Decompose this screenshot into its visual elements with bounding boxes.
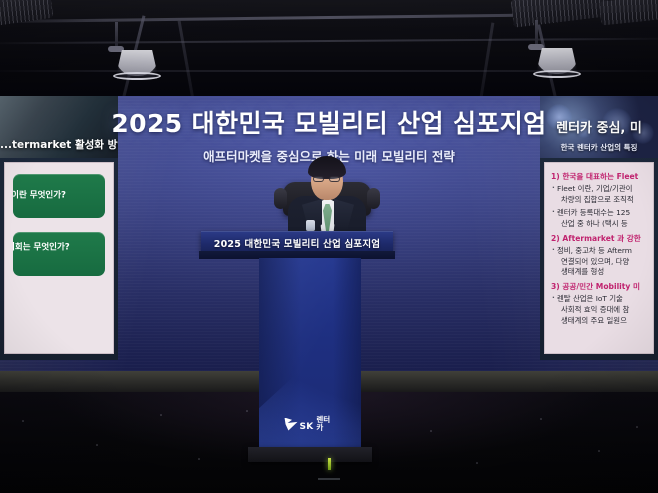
sk-rentacar-logo: SK 렌터카 bbox=[285, 416, 336, 432]
ceiling-vent-grille-icon bbox=[511, 0, 610, 28]
sk-logo-text: SK bbox=[300, 423, 314, 432]
pendant-lip bbox=[533, 70, 581, 78]
green-led-indicator bbox=[328, 458, 331, 470]
conference-stage-photo: 2025 대한민국 모빌리티 산업 심포지엄 애프터마켓을 중심으로 하는 미래… bbox=[0, 0, 658, 493]
left-slide-box-text: ...활성화 기회는 무엇인가? 술 중심) bbox=[13, 243, 105, 266]
sk-logo-text-kr: 렌터카 bbox=[316, 416, 335, 431]
podium-banner-text: 2025 대한민국 모빌리티 산업 심포지엄 bbox=[214, 236, 380, 250]
podium-base bbox=[248, 447, 372, 462]
right-slide-heading: 2) Aftermarket 과 강한 bbox=[551, 233, 649, 244]
floor-reflection-glint bbox=[318, 478, 340, 480]
podium-banner: 2025 대한민국 모빌리티 산업 심포지엄 bbox=[201, 231, 393, 253]
bullet-line-3: 생태계의 주요 일원으 bbox=[561, 316, 649, 327]
pendant-rod bbox=[115, 22, 118, 48]
truss-rod bbox=[473, 23, 495, 96]
left-slide-green-box: ...t 연결성이란 무엇인가? bbox=[13, 174, 105, 218]
ceiling bbox=[0, 0, 658, 96]
presenter-lapel-badge bbox=[306, 220, 315, 231]
bullet-line-2: 차량의 집합으로 조직적 bbox=[561, 195, 649, 206]
pendant-rod bbox=[535, 20, 538, 46]
bullet-line-1: Fleet 이란, 기업/기관이 bbox=[557, 184, 632, 193]
ceiling-vent-grille-icon bbox=[599, 0, 658, 26]
pendant-lip bbox=[113, 72, 161, 80]
right-slide-bullet: Fleet 이란, 기업/기관이 차량의 집합으로 조직적 bbox=[557, 184, 649, 205]
podium-front-panel: SK 렌터카 bbox=[259, 258, 361, 454]
bullet-line-1: 렌탈 산업은 IoT 기술 bbox=[557, 294, 623, 303]
left-box-line-1: ...t 연결성이란 무엇인가? bbox=[13, 190, 66, 200]
symposium-main-title: 2025 대한민국 모빌리티 산업 심포지엄 bbox=[89, 104, 569, 140]
left-box-line-2: 술 중심) bbox=[13, 254, 105, 265]
presenter-glasses-right-lens bbox=[329, 176, 340, 182]
bullet-line-2: 연결되어 있으며, 다양 bbox=[561, 257, 649, 268]
bullet-line-1: 정비, 중고차 등 Afterm bbox=[557, 246, 632, 255]
ceiling-beam bbox=[0, 38, 658, 45]
presenter-glasses-left-lens bbox=[313, 176, 324, 182]
bullet-line-3: 생태계를 형성 bbox=[561, 267, 649, 278]
sk-wing-shape bbox=[285, 418, 298, 431]
bullet-line-1: 렌터카 등록대수는 125 bbox=[557, 208, 630, 217]
left-box-line-1: ...활성화 기회는 무엇인가? bbox=[13, 243, 70, 253]
sk-wing-icon bbox=[285, 418, 297, 431]
truss-rod bbox=[178, 21, 202, 96]
pendant-yoke bbox=[108, 46, 124, 52]
right-slide-body: 1) 한국을 대표하는 Fleet Fleet 이란, 기업/기관이 차량의 집… bbox=[544, 162, 654, 354]
left-slide-green-box: ...활성화 기회는 무엇인가? 술 중심) bbox=[13, 232, 105, 276]
bullet-line-2: 사회적 효익 증대에 참 bbox=[561, 305, 649, 316]
left-slide-box-text: ...t 연결성이란 무엇인가? bbox=[13, 190, 105, 201]
right-slide-bullet: 렌탈 산업은 IoT 기술 사회적 효익 증대에 참 생태계의 주요 일원으 bbox=[557, 294, 649, 326]
left-slide-body: ...t 연결성이란 무엇인가? ...활성화 기회는 무엇인가? 술 중심) bbox=[4, 162, 114, 354]
right-slide-bullet: 정비, 중고차 등 Afterm 연결되어 있으며, 다양 생태계를 형성 bbox=[557, 246, 649, 278]
right-slide-heading: 3) 공공/민간 Mobility 미 bbox=[551, 281, 649, 292]
right-slide-heading: 1) 한국을 대표하는 Fleet bbox=[551, 171, 649, 182]
pendant-yoke bbox=[528, 44, 544, 50]
bullet-line-2: 산업 중 하나 (택시 등 bbox=[561, 219, 649, 230]
right-slide-bullet: 렌터카 등록대수는 125 산업 중 하나 (택시 등 bbox=[557, 208, 649, 229]
